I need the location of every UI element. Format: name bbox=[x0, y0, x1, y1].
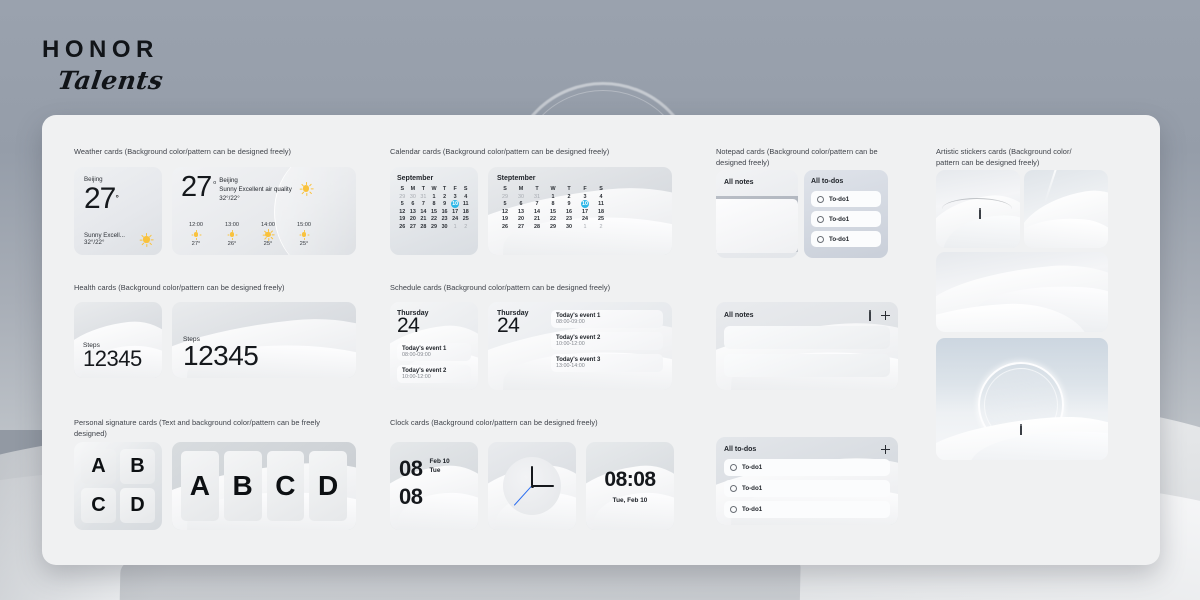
calendar-weekday: F bbox=[577, 186, 593, 192]
todo-list: To-do1 To-do1 To-do1 bbox=[811, 191, 881, 247]
signature-card-small[interactable]: A B C D bbox=[74, 442, 162, 530]
schedule-section-title: Schedule cards (Background color/pattern… bbox=[390, 283, 690, 294]
all-todos-title: All to-dos bbox=[811, 178, 881, 185]
calendar-day[interactable]: 15 bbox=[545, 209, 561, 215]
todo-label: To-do1 bbox=[742, 464, 762, 471]
calendar-day[interactable]: 29 bbox=[397, 194, 408, 200]
figure-icon bbox=[1020, 426, 1022, 435]
health-section: Health cards (Background color/pattern c… bbox=[74, 283, 374, 294]
hourly-time: 13:00 bbox=[217, 222, 247, 228]
clock-card-digital[interactable]: 08:08 Tue, Feb 10 bbox=[586, 442, 674, 530]
calendar-day[interactable]: 21 bbox=[529, 216, 545, 222]
calendar-day[interactable]: 28 bbox=[418, 224, 429, 230]
calendar-day[interactable]: 3 bbox=[577, 194, 593, 200]
weather-section: Weather cards (Background color/pattern … bbox=[74, 147, 374, 158]
calendar-section: Calendar cards (Background color/pattern… bbox=[390, 147, 690, 158]
calendar-month: September bbox=[397, 175, 471, 182]
todo-item[interactable]: To-do1 bbox=[724, 459, 890, 476]
schedule-day-large: 24 bbox=[497, 317, 543, 336]
checkbox-icon[interactable] bbox=[817, 216, 824, 223]
calendar-day[interactable]: 27 bbox=[513, 224, 529, 230]
calendar-day[interactable]: 8 bbox=[545, 201, 561, 207]
calendar-weekday: S bbox=[397, 186, 408, 192]
weather-degree-symbol: ° bbox=[115, 194, 119, 204]
schedule-card-small[interactable]: Thursday 24 Today's event 1 08:00-09:00 … bbox=[390, 302, 478, 390]
calendar-day[interactable]: 30 bbox=[561, 224, 577, 230]
hourly-temp: 26° bbox=[217, 241, 247, 247]
calendar-day[interactable]: 24 bbox=[577, 216, 593, 222]
hourly-temp: 25° bbox=[289, 241, 319, 247]
calendar-day[interactable]: 2 bbox=[439, 194, 450, 200]
calendar-day[interactable]: 26 bbox=[497, 224, 513, 230]
stickers-section: Artistic stickers cards (Background colo… bbox=[936, 147, 1126, 168]
calendar-day[interactable]: 21 bbox=[418, 216, 429, 222]
calendar-weekday: T bbox=[439, 186, 450, 192]
calendar-day[interactable]: 19 bbox=[497, 216, 513, 222]
all-notes-card[interactable]: All notes bbox=[716, 170, 798, 258]
signature-letter-tile[interactable]: C bbox=[267, 451, 305, 521]
calendar-weekday: F bbox=[450, 186, 461, 192]
signature-letter-tile[interactable]: B bbox=[120, 449, 155, 484]
calendar-day[interactable]: 18 bbox=[593, 209, 609, 215]
calendar-day[interactable]: 20 bbox=[408, 216, 419, 222]
weather-city-large: Beijing bbox=[219, 177, 292, 184]
calendar-day[interactable]: 18 bbox=[460, 209, 471, 215]
event-time: 13:00-14:00 bbox=[556, 363, 658, 369]
calendar-day[interactable]: 25 bbox=[460, 216, 471, 222]
todo-item[interactable]: To-do1 bbox=[811, 191, 881, 207]
calendar-grid-small: SMTWTFS293031123456789101112131415161718… bbox=[397, 186, 471, 230]
calendar-day[interactable]: 11 bbox=[460, 201, 471, 207]
sticker-card-3[interactable] bbox=[936, 252, 1108, 332]
calendar-day[interactable]: 12 bbox=[397, 209, 408, 215]
calendar-day[interactable]: 2 bbox=[460, 224, 471, 230]
calendar-section-title: Calendar cards (Background color/pattern… bbox=[390, 147, 690, 158]
note-item[interactable] bbox=[724, 326, 890, 349]
schedule-day: 24 bbox=[397, 317, 471, 336]
calendar-day[interactable]: 8 bbox=[429, 201, 440, 207]
checkbox-icon[interactable] bbox=[817, 196, 824, 203]
calendar-day[interactable]: 10 bbox=[450, 201, 461, 207]
hourly-item: 13:00 26° bbox=[217, 222, 247, 247]
hourly-item: 15:00 25° bbox=[289, 222, 319, 247]
calendar-day[interactable]: 9 bbox=[439, 201, 450, 207]
all-notes-wide-title: All notes bbox=[724, 312, 754, 319]
todo-item[interactable]: To-do1 bbox=[811, 211, 881, 227]
clock-card-analog[interactable] bbox=[488, 442, 576, 530]
calendar-day[interactable]: 1 bbox=[577, 224, 593, 230]
calendar-day[interactable]: 7 bbox=[418, 201, 429, 207]
hourly-item: 12:00 27° bbox=[181, 222, 211, 247]
schedule-event[interactable]: Today's event 1 08:00-09:00 bbox=[397, 343, 471, 361]
calendar-day[interactable]: 4 bbox=[460, 194, 471, 200]
weather-card-small[interactable]: Beijing 27° Sunny Excell... 32°/22° bbox=[74, 167, 162, 255]
checkbox-icon[interactable] bbox=[730, 485, 737, 492]
brand-name: HONOR bbox=[42, 38, 163, 62]
hourly-time: 15:00 bbox=[289, 222, 319, 228]
weather-condition: Sunny Excell... bbox=[84, 232, 125, 239]
calendar-day[interactable]: 19 bbox=[397, 216, 408, 222]
calendar-day[interactable]: 2 bbox=[593, 224, 609, 230]
calendar-day[interactable]: 16 bbox=[439, 209, 450, 215]
hourly-temp: 27° bbox=[181, 241, 211, 247]
schedule-event[interactable]: Today's event 2 10:00-12:00 bbox=[397, 365, 471, 383]
calendar-day[interactable]: 23 bbox=[561, 216, 577, 222]
figure-icon bbox=[979, 210, 981, 219]
clock-section: Clock cards (Background color/pattern ca… bbox=[390, 418, 690, 429]
calendar-day[interactable]: 3 bbox=[450, 194, 461, 200]
hourly-temp: 25° bbox=[253, 241, 283, 247]
note-stack-front bbox=[716, 199, 798, 253]
calendar-day[interactable]: 15 bbox=[429, 209, 440, 215]
sticker-card-2[interactable] bbox=[1024, 170, 1108, 248]
sun-icon bbox=[263, 229, 274, 240]
calendar-weekday: M bbox=[513, 186, 529, 192]
calendar-day[interactable]: 7 bbox=[529, 201, 545, 207]
calendar-month-large: Steptember bbox=[497, 175, 663, 182]
calendar-weekday: T bbox=[561, 186, 577, 192]
calendar-day[interactable]: 29 bbox=[429, 224, 440, 230]
checkbox-icon[interactable] bbox=[730, 464, 737, 471]
todo-list-wide: To-do1 To-do1 To-do1 bbox=[724, 459, 890, 518]
plus-icon[interactable] bbox=[881, 445, 890, 454]
clock-hour: 08 bbox=[399, 458, 422, 480]
todo-label: To-do1 bbox=[829, 216, 849, 223]
weather-section-title: Weather cards (Background color/pattern … bbox=[74, 147, 374, 158]
all-todos-wide-card[interactable]: All to-dos To-do1 To-do1 To-do1 bbox=[716, 437, 898, 525]
calendar-day[interactable]: 30 bbox=[408, 194, 419, 200]
calendar-day[interactable]: 27 bbox=[408, 224, 419, 230]
calendar-day[interactable]: 2 bbox=[561, 194, 577, 200]
checkbox-icon[interactable] bbox=[730, 506, 737, 513]
signature-letter-tile[interactable]: A bbox=[81, 449, 116, 484]
signature-letter-tile[interactable]: C bbox=[81, 488, 116, 523]
hourly-time: 12:00 bbox=[181, 222, 211, 228]
event-time: 10:00-12:00 bbox=[402, 374, 466, 380]
clock-second-hand bbox=[514, 486, 532, 506]
calendar-weekday: S bbox=[593, 186, 609, 192]
all-notes-title: All notes bbox=[724, 179, 754, 186]
all-notes-wide-card[interactable]: All notes bbox=[716, 302, 898, 390]
clock-section-title: Clock cards (Background color/pattern ca… bbox=[390, 418, 690, 429]
signature-card-large[interactable]: A B C D bbox=[172, 442, 356, 530]
digital-clock-time: 08:08 bbox=[604, 468, 655, 492]
calendar-day[interactable]: 26 bbox=[397, 224, 408, 230]
weather-condition-large: Sunny Excellent air quality bbox=[219, 186, 292, 193]
digital-clock-date: Tue, Feb 10 bbox=[613, 497, 648, 504]
schedule-event[interactable]: Today's event 3 13:00-14:00 bbox=[551, 354, 663, 372]
calendar-weekday: W bbox=[429, 186, 440, 192]
calendar-day[interactable]: 13 bbox=[513, 209, 529, 215]
calendar-day[interactable]: 29 bbox=[545, 224, 561, 230]
calendar-day[interactable]: 23 bbox=[439, 216, 450, 222]
calendar-weekday: S bbox=[460, 186, 471, 192]
weather-degree-mark: o bbox=[213, 180, 216, 186]
calendar-card-small[interactable]: September SMTWTFS29303112345678910111213… bbox=[390, 167, 478, 255]
signature-section-title: Personal signature cards (Text and backg… bbox=[74, 418, 374, 439]
schedule-event[interactable]: Today's event 1 08:00-09:00 bbox=[551, 310, 663, 328]
calendar-day[interactable]: 31 bbox=[529, 194, 545, 200]
sticker-card-1[interactable] bbox=[936, 170, 1020, 248]
calendar-day[interactable]: 16 bbox=[561, 209, 577, 215]
calendar-day[interactable]: 6 bbox=[408, 201, 419, 207]
calendar-card-large[interactable]: Steptember SMTWTFS2930311234567891011121… bbox=[488, 167, 672, 255]
sun-icon bbox=[228, 230, 237, 239]
calendar-day[interactable]: 1 bbox=[545, 194, 561, 200]
weather-card-large[interactable]: 27 o Beijing Sunny Excellent air quality… bbox=[172, 167, 356, 255]
analog-clock-icon bbox=[503, 457, 561, 515]
hourly-time: 14:00 bbox=[253, 222, 283, 228]
event-time: 08:00-09:00 bbox=[402, 352, 466, 358]
calendar-grid-large: SMTWTFS293031123456789101112131415161718… bbox=[497, 186, 609, 230]
all-todos-card[interactable]: All to-dos To-do1 To-do1 To-do1 bbox=[804, 170, 888, 258]
notepad-section: Notepad cards (Background color/pattern … bbox=[716, 147, 906, 168]
all-todos-wide-title: All to-dos bbox=[724, 446, 756, 453]
signature-letter-tile[interactable]: A bbox=[181, 451, 219, 521]
calendar-day[interactable]: 25 bbox=[593, 216, 609, 222]
stickers-section-title: Artistic stickers cards (Background colo… bbox=[936, 147, 1126, 168]
schedule-card-large[interactable]: Thursday 24 Today's event 1 08:00-09:00 … bbox=[488, 302, 672, 390]
health-card-large[interactable]: Steps 12345 bbox=[172, 302, 356, 378]
clock-minute: 08 bbox=[390, 480, 478, 508]
weather-high-low-large: 32°/22° bbox=[219, 195, 292, 202]
schedule-event-list-large: Today's event 1 08:00-09:00 Today's even… bbox=[551, 310, 663, 372]
signature-letter-tile[interactable]: D bbox=[120, 488, 155, 523]
clock-card-stacked[interactable]: 08 Feb 10 Tue 08 bbox=[390, 442, 478, 530]
steps-value: 12345 bbox=[183, 343, 258, 370]
clock-minute-hand bbox=[532, 485, 554, 487]
signature-letter-tile[interactable]: B bbox=[224, 451, 262, 521]
calendar-day[interactable]: 30 bbox=[513, 194, 529, 200]
calendar-day[interactable]: 30 bbox=[439, 224, 450, 230]
calendar-day[interactable]: 20 bbox=[513, 216, 529, 222]
todo-item[interactable]: To-do1 bbox=[811, 231, 881, 247]
calendar-weekday: S bbox=[497, 186, 513, 192]
health-card-small[interactable]: Steps 12345 bbox=[74, 302, 162, 378]
schedule-event[interactable]: Today's event 2 10:00-12:00 bbox=[551, 332, 663, 350]
sun-icon bbox=[192, 230, 201, 239]
health-section-title: Health cards (Background color/pattern c… bbox=[74, 283, 374, 294]
note-list bbox=[724, 326, 890, 377]
event-time: 08:00-09:00 bbox=[556, 319, 658, 325]
calendar-weekday: M bbox=[408, 186, 419, 192]
calendar-day[interactable]: 17 bbox=[450, 209, 461, 215]
calendar-day[interactable]: 31 bbox=[418, 194, 429, 200]
calendar-day[interactable]: 5 bbox=[497, 201, 513, 207]
calendar-day[interactable]: 12 bbox=[497, 209, 513, 215]
schedule-event-list: Today's event 1 08:00-09:00 Today's even… bbox=[397, 343, 471, 383]
todo-label: To-do1 bbox=[742, 485, 762, 492]
calendar-day[interactable]: 10 bbox=[577, 201, 593, 207]
calendar-day[interactable]: 29 bbox=[497, 194, 513, 200]
calendar-day[interactable]: 28 bbox=[529, 224, 545, 230]
weather-hourly-forecast: 12:00 27° 13:00 26° 14:00 bbox=[181, 222, 319, 247]
plus-icon[interactable] bbox=[881, 311, 890, 320]
calendar-day[interactable]: 5 bbox=[397, 201, 408, 207]
clock-hour-hand bbox=[531, 466, 533, 486]
sun-icon bbox=[140, 233, 153, 246]
clock-center-pin bbox=[531, 485, 534, 488]
wire-line bbox=[942, 198, 1012, 220]
sticker-card-4[interactable] bbox=[936, 338, 1108, 460]
signature-letter-tile[interactable]: D bbox=[309, 451, 347, 521]
steps-value: 12345 bbox=[83, 349, 142, 370]
checkbox-icon[interactable] bbox=[817, 236, 824, 243]
content-panel: Weather cards (Background color/pattern … bbox=[42, 115, 1160, 565]
todo-label: To-do1 bbox=[829, 196, 849, 203]
calendar-weekday: T bbox=[418, 186, 429, 192]
calendar-day[interactable]: 17 bbox=[577, 209, 593, 215]
calendar-day[interactable]: 6 bbox=[513, 201, 529, 207]
notepad-section-title: Notepad cards (Background color/pattern … bbox=[716, 147, 906, 168]
calendar-day[interactable]: 1 bbox=[450, 224, 461, 230]
weather-temperature-large: 27 bbox=[181, 174, 211, 201]
sun-icon bbox=[300, 182, 313, 195]
todo-label: To-do1 bbox=[742, 506, 762, 513]
calendar-day[interactable]: 24 bbox=[450, 216, 461, 222]
todo-item[interactable]: To-do1 bbox=[724, 480, 890, 497]
calendar-day[interactable]: 22 bbox=[429, 216, 440, 222]
calendar-day[interactable]: 9 bbox=[561, 201, 577, 207]
calendar-weekday: T bbox=[529, 186, 545, 192]
calendar-day[interactable]: 14 bbox=[529, 209, 545, 215]
signature-section: Personal signature cards (Text and backg… bbox=[74, 418, 374, 439]
figure-icon bbox=[868, 310, 872, 321]
clock-weekday: Tue bbox=[429, 467, 449, 476]
hourly-item: 14:00 25° bbox=[253, 222, 283, 247]
clock-date: Feb 10 bbox=[429, 458, 449, 467]
calendar-day[interactable]: 13 bbox=[408, 209, 419, 215]
calendar-day[interactable]: 22 bbox=[545, 216, 561, 222]
weather-high-low: 32°/22° bbox=[84, 239, 125, 246]
brand-logo: HONOR Talents bbox=[42, 38, 163, 93]
brand-sub: Talents bbox=[56, 68, 165, 93]
weather-temperature: 27 bbox=[84, 182, 115, 215]
sun-icon bbox=[300, 230, 309, 239]
event-time: 10:00-12:00 bbox=[556, 341, 658, 347]
todo-label: To-do1 bbox=[829, 236, 849, 243]
note-item[interactable] bbox=[724, 354, 890, 377]
schedule-section: Schedule cards (Background color/pattern… bbox=[390, 283, 690, 294]
calendar-day[interactable]: 11 bbox=[593, 201, 609, 207]
calendar-day[interactable]: 14 bbox=[418, 209, 429, 215]
calendar-day[interactable]: 1 bbox=[429, 194, 440, 200]
calendar-weekday: W bbox=[545, 186, 561, 192]
todo-item[interactable]: To-do1 bbox=[724, 501, 890, 518]
calendar-day[interactable]: 4 bbox=[593, 194, 609, 200]
